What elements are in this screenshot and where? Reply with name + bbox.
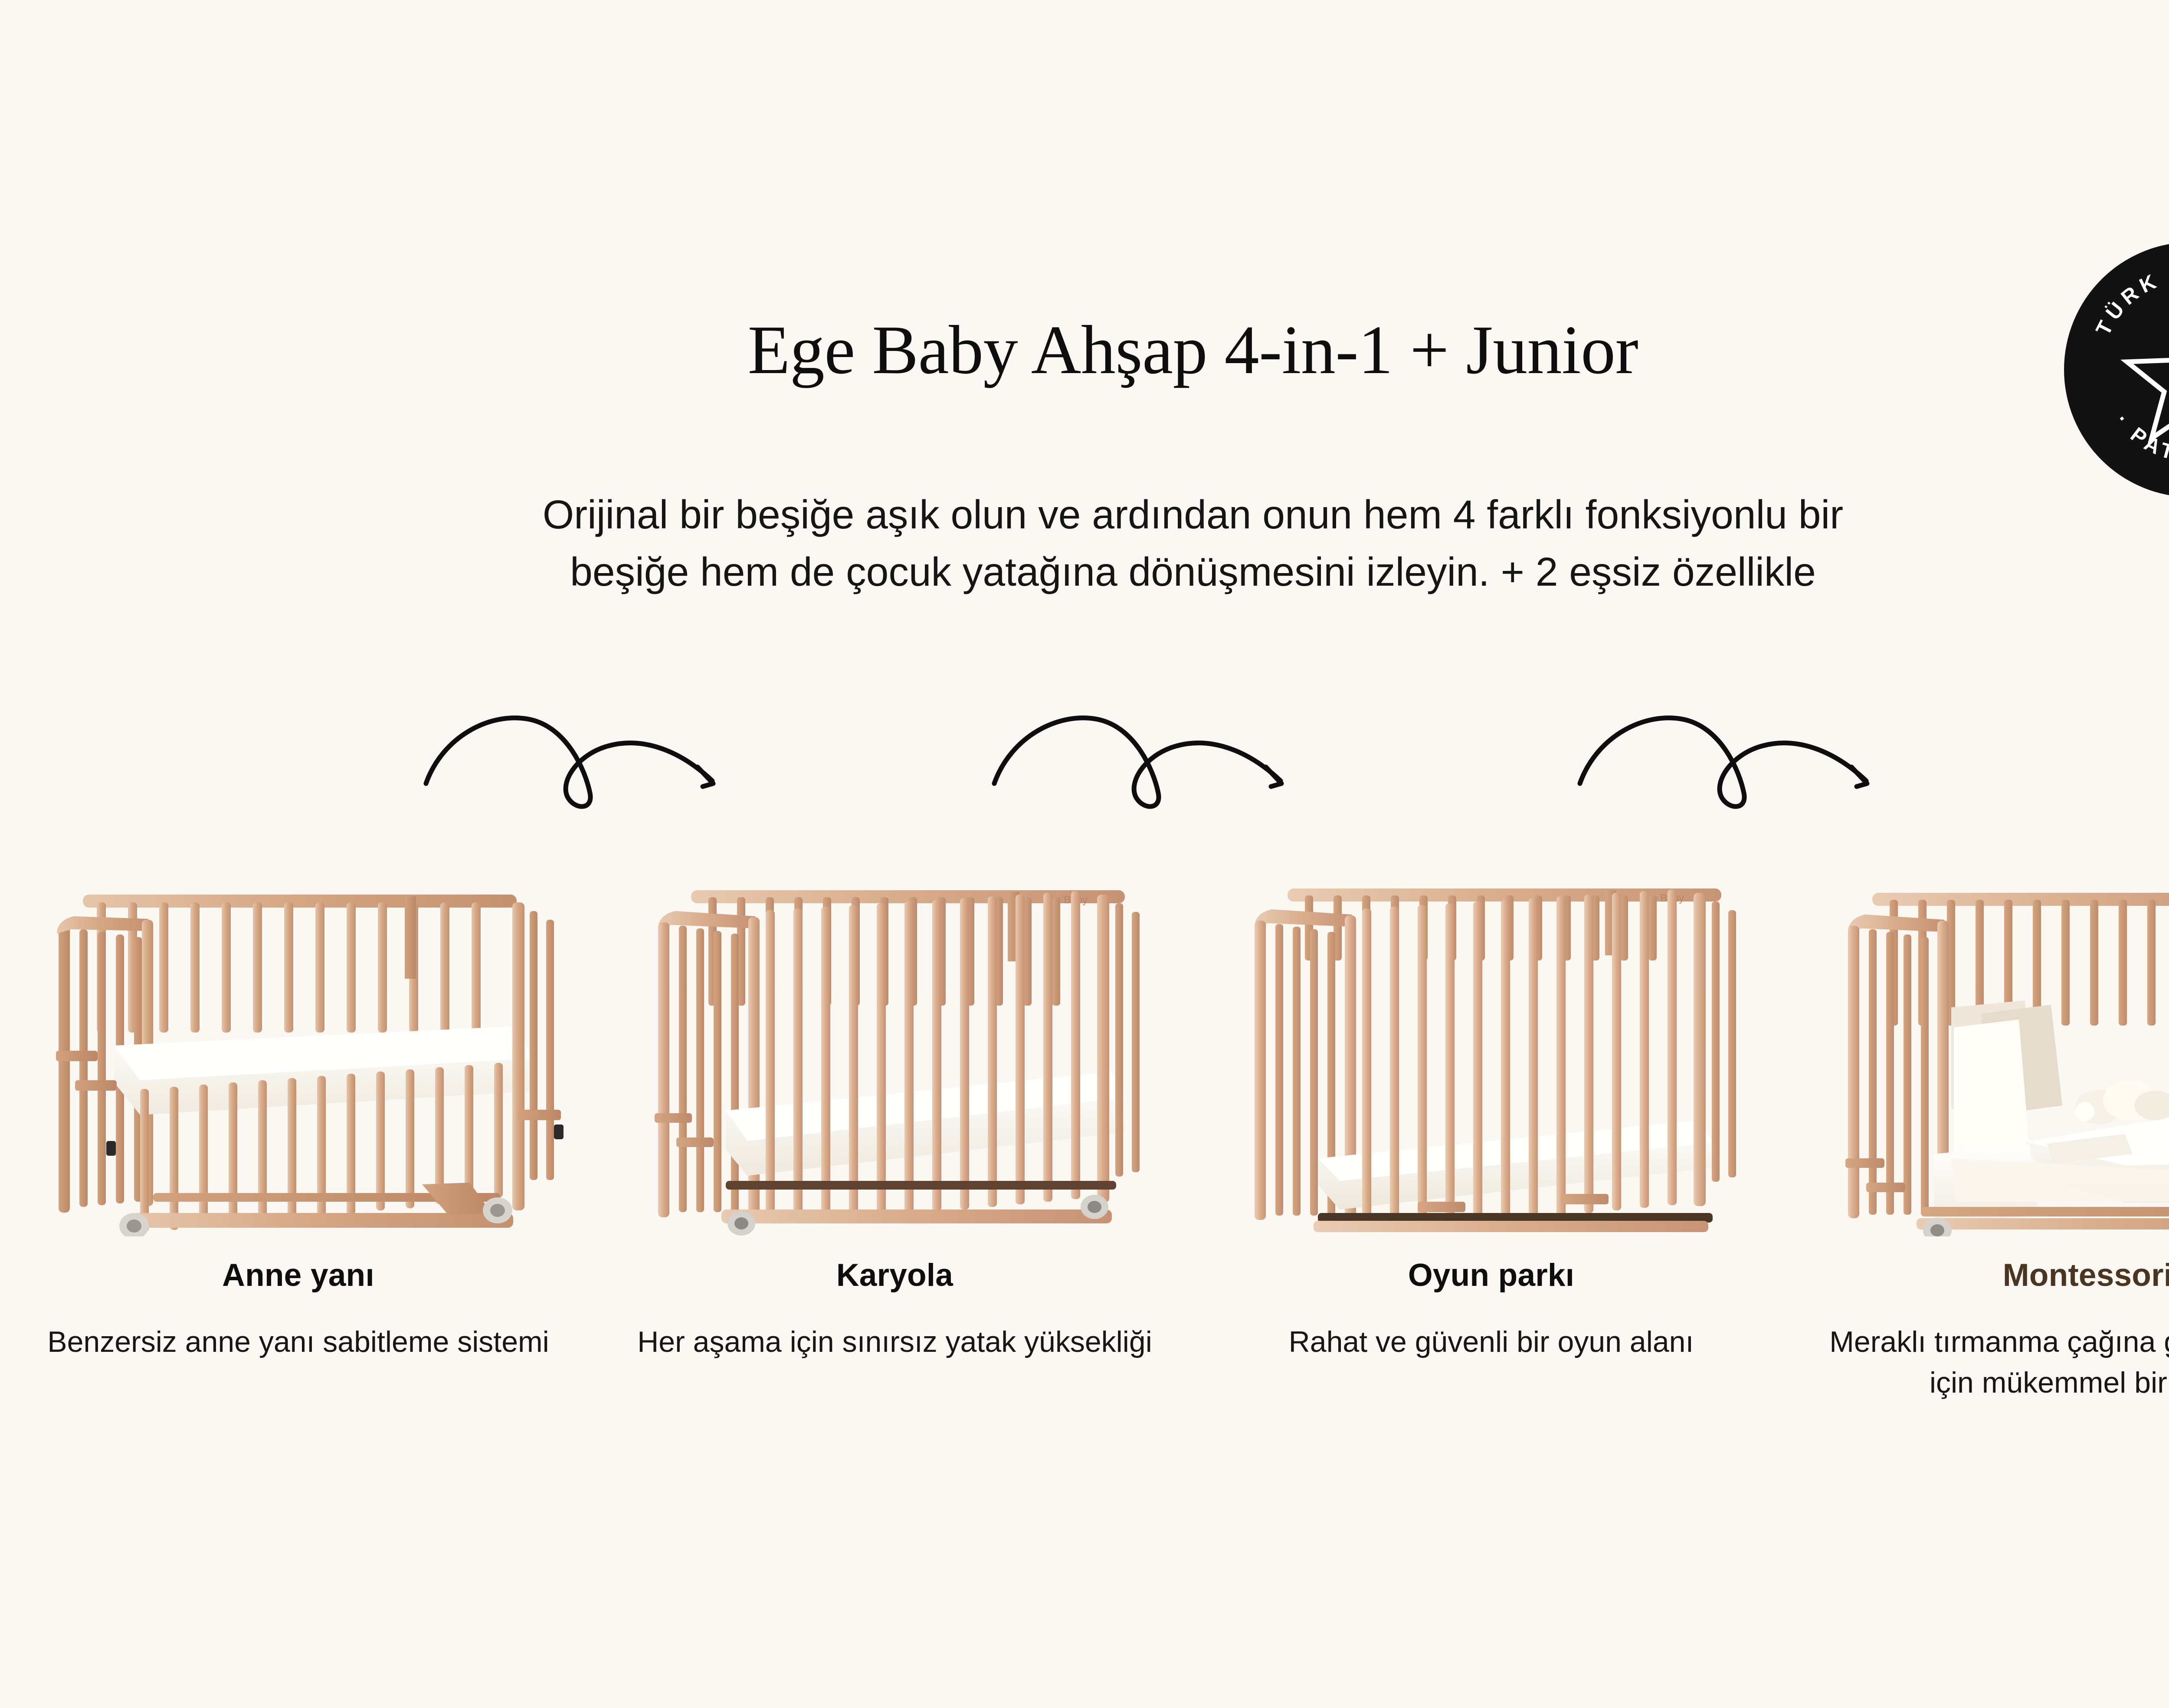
- stage-description-oyun-parki: Rahat ve güvenli bir oyun alanı: [1220, 1322, 1763, 1363]
- crib-image-4-wrap: [1789, 850, 2169, 1236]
- product-stage-karyola: Ege Baby: [596, 850, 1193, 1466]
- stage-description-karyola: Her aşama için sınırsız yatak yüksekliği: [624, 1322, 1166, 1363]
- crib-image-3-wrap: Ege Baby: [1193, 850, 1789, 1236]
- playpen-photo: Ege Baby: [1231, 855, 1752, 1236]
- crib-image-1-wrap: [0, 850, 596, 1236]
- stage-label-montessori: Montessori: [2003, 1257, 2169, 1293]
- plush-toy: [2075, 1080, 2169, 1124]
- transition-arrow-1: [403, 706, 733, 806]
- page-title: Ege Baby Ahşap 4-in-1 + Junior: [0, 315, 2169, 384]
- product-stage-columns: Anne yanı Benzersiz anne yanı sabitleme …: [0, 850, 2169, 1466]
- montessori-bed-photo: [1821, 855, 2169, 1236]
- product-stage-oyun-parki: Ege Baby: [1193, 850, 1789, 1466]
- page-subtitle: Orijinal bir beşiğe aşık olun ve ardında…: [512, 486, 1874, 600]
- transition-arrow-2: [972, 706, 1301, 806]
- stage-label-anne-yani: Anne yanı: [222, 1257, 374, 1293]
- stage-label-oyun-parki: Oyun parkı: [1408, 1257, 1574, 1293]
- stage-description-anne-yani: Benzersiz anne yanı sabitleme sistemi: [27, 1322, 570, 1363]
- transition-arrow-3: [1557, 706, 1887, 806]
- product-stage-anne-yani: Anne yanı Benzersiz anne yanı sabitleme …: [0, 850, 596, 1466]
- infographic-canvas: TÜRK TASARIM · PATENTLİ · Ege Baby Ahşap…: [0, 0, 2169, 1708]
- product-stage-montessori: Montessori Meraklı tırmanma çağına gelen…: [1789, 850, 2169, 1466]
- bedside-crib-photo: [32, 855, 565, 1236]
- crib-image-2-wrap: Ege Baby: [596, 850, 1193, 1236]
- full-crib-photo: Ege Baby: [639, 855, 1151, 1236]
- stage-description-montessori: Meraklı tırmanma çağına gelen minikler i…: [1817, 1322, 2169, 1403]
- stage-label-karyola: Karyola: [836, 1257, 953, 1293]
